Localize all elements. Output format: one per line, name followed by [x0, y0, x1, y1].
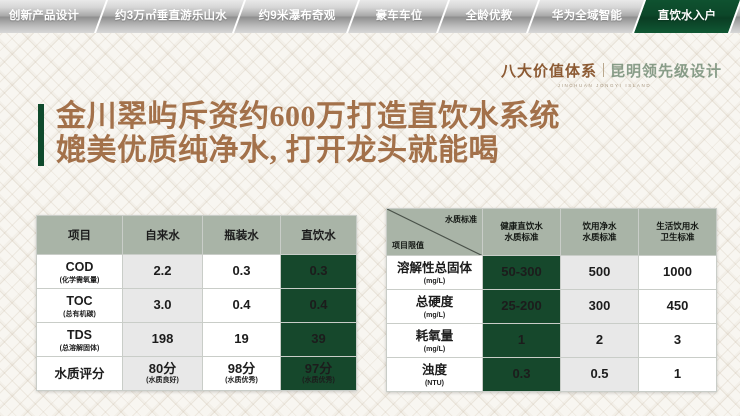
cell-value-highlight: 25-200 [483, 290, 561, 324]
row-label-turbidity: 浊度 (NTU) [387, 358, 483, 392]
row-label-sub: (mg/L) [387, 312, 482, 321]
corner-label-limit: 项目限值 [392, 240, 424, 251]
row-label-main: TDS [67, 328, 92, 342]
row-label-main: 溶解性总固体 [397, 261, 472, 275]
headline-line-2: 媲美优质纯净水, 打开龙头就能喝 [56, 134, 560, 168]
table-row: 总硬度 (mg/L) 25-200 300 450 [387, 290, 717, 324]
brand-lockup: 八大价值体系 昆明领先级设计 JINCHUAN JONGYI ISLAND [501, 62, 722, 89]
nav-tab-1[interactable]: 约3万㎡垂直游乐山水 [94, 0, 248, 33]
table-row: TDS (总溶解固体) 198 19 39 [37, 323, 357, 357]
brand-divider [603, 63, 604, 77]
th-bottled-water: 瓶装水 [203, 216, 281, 255]
nav-tab-label: 约3万㎡垂直游乐山水 [102, 0, 240, 33]
water-comparison-table: 项目 自来水 瓶装水 直饮水 COD (化学需氧量) 2.2 0.3 0.3 T… [36, 215, 357, 391]
row-label-main: 浊度 [422, 363, 447, 377]
cell-value: 98分 (水质优秀) [203, 357, 281, 391]
cell-value: 1000 [639, 256, 717, 290]
row-label-tds-dissolved: 溶解性总固体 (mg/L) [387, 256, 483, 290]
row-label-sub: (NTU) [387, 380, 482, 389]
nav-tab-label: 豪车车位 [354, 0, 444, 33]
row-label-main: 水质评分 [54, 367, 104, 381]
table-row: 耗氧量 (mg/L) 1 2 3 [387, 324, 717, 358]
nav-tab-6-active[interactable]: 直饮水入户 [632, 0, 740, 33]
headline-accent-bar [38, 104, 44, 166]
cell-value: 0.4 [203, 289, 281, 323]
cell-value-sub: (水质优秀) [203, 377, 280, 385]
row-label-main: 总硬度 [416, 295, 454, 309]
table-header-row: 水质标准 项目限值 健康直饮水 水质标准 饮用净水 水质标准 [387, 209, 717, 256]
cell-value-sub: (水质优秀) [281, 377, 356, 385]
cell-value: 300 [561, 290, 639, 324]
cell-value-main: 97分 [305, 361, 332, 376]
cell-value: 19 [203, 323, 281, 357]
nav-tab-bar: 创新产品设计 约3万㎡垂直游乐山水 约9米瀑布奇观 豪车车位 全龄优教 华为全域… [0, 0, 740, 33]
cell-value: 3.0 [123, 289, 203, 323]
corner-label-standard: 水质标准 [445, 214, 477, 225]
cell-value-highlight: 0.4 [281, 289, 357, 323]
row-label-toc: TOC (总有机碳) [37, 289, 123, 323]
cell-value-highlight: 39 [281, 323, 357, 357]
row-label-hardness: 总硬度 (mg/L) [387, 290, 483, 324]
slide-canvas: 创新产品设计 约3万㎡垂直游乐山水 约9米瀑布奇观 豪车车位 全龄优教 华为全域… [0, 0, 740, 416]
th-line-2: 水质标准 [561, 232, 638, 243]
table-row: COD (化学需氧量) 2.2 0.3 0.3 [37, 255, 357, 289]
nav-tab-label: 约9米瀑布奇观 [240, 0, 354, 33]
row-label-main: 耗氧量 [416, 329, 454, 343]
th-direct-drink-water: 直饮水 [281, 216, 357, 255]
row-label-sub: (总溶解固体) [37, 345, 122, 354]
row-label-oxygen-consumption: 耗氧量 (mg/L) [387, 324, 483, 358]
table-row: 水质评分 80分 (水质良好) 98分 (水质优秀) 97分 (水质优秀) [37, 357, 357, 391]
nav-tab-label: 创新产品设计 [0, 0, 102, 33]
cell-value: 80分 (水质良好) [123, 357, 203, 391]
row-label-main: TOC [66, 294, 92, 308]
cell-value: 500 [561, 256, 639, 290]
cell-value: 2.2 [123, 255, 203, 289]
row-label-main: COD [66, 260, 94, 274]
th-line-2: 水质标准 [483, 232, 560, 243]
nav-tab-label: 全龄优教 [444, 0, 534, 33]
cell-value-highlight: 1 [483, 324, 561, 358]
row-label-sub: (mg/L) [387, 346, 482, 355]
row-label-sub: (总有机碳) [37, 311, 122, 320]
cell-value-highlight: 0.3 [483, 358, 561, 392]
cell-value-highlight: 97分 (水质优秀) [281, 357, 357, 391]
th-line-1: 生活饮用水 [639, 221, 716, 232]
cell-value-sub: (水质良好) [123, 377, 202, 385]
row-label-sub: (化学需氧量) [37, 277, 122, 286]
row-label-sub: (mg/L) [387, 278, 482, 287]
headline-text: 金川翠屿斥资约600万打造直饮水系统 媲美优质纯净水, 打开龙头就能喝 [56, 100, 560, 168]
table-row: TOC (总有机碳) 3.0 0.4 0.4 [37, 289, 357, 323]
brand-row: 八大价值体系 昆明领先级设计 [501, 62, 722, 80]
th-item: 项目 [37, 216, 123, 255]
th-healthy-direct-drink: 健康直饮水 水质标准 [483, 209, 561, 256]
nav-tab-label: 华为全域智能 [534, 0, 640, 33]
nav-tab-2[interactable]: 约9米瀑布奇观 [232, 0, 362, 33]
th-purified-drinking: 饮用净水 水质标准 [561, 209, 639, 256]
cell-value-highlight: 50-300 [483, 256, 561, 290]
cell-value: 3 [639, 324, 717, 358]
cell-value: 0.5 [561, 358, 639, 392]
row-label-score: 水质评分 [37, 357, 123, 391]
nav-tab-0[interactable]: 创新产品设计 [0, 0, 110, 33]
cell-value: 198 [123, 323, 203, 357]
cell-value: 450 [639, 290, 717, 324]
cell-value-highlight: 0.3 [281, 255, 357, 289]
th-line-2: 卫生标准 [639, 232, 716, 243]
brand-latin-text: JINCHUAN JONGYI ISLAND [501, 84, 722, 89]
cell-value: 2 [561, 324, 639, 358]
th-corner-split: 水质标准 项目限值 [387, 209, 483, 256]
table-row: 溶解性总固体 (mg/L) 50-300 500 1000 [387, 256, 717, 290]
th-domestic-drinking: 生活饮用水 卫生标准 [639, 209, 717, 256]
brand-sub-text: 昆明领先级设计 [610, 65, 722, 80]
nav-tab-5[interactable]: 华为全域智能 [526, 0, 648, 33]
water-standards-table: 水质标准 项目限值 健康直饮水 水质标准 饮用净水 水质标准 [386, 208, 717, 392]
cell-value-main: 98分 [228, 361, 255, 376]
brand-main-text: 八大价值体系 [501, 65, 597, 80]
cell-value-main: 80分 [149, 361, 176, 376]
headline-line-1: 金川翠屿斥资约600万打造直饮水系统 [56, 100, 560, 134]
table-row: 浊度 (NTU) 0.3 0.5 1 [387, 358, 717, 392]
row-label-tds: TDS (总溶解固体) [37, 323, 123, 357]
row-label-cod: COD (化学需氧量) [37, 255, 123, 289]
cell-value: 1 [639, 358, 717, 392]
nav-tab-label: 直饮水入户 [640, 0, 734, 33]
cell-value: 0.3 [203, 255, 281, 289]
nav-tab-3[interactable]: 豪车车位 [346, 0, 452, 33]
table-header-row: 项目 自来水 瓶装水 直饮水 [37, 216, 357, 255]
th-line-1: 健康直饮水 [483, 221, 560, 232]
th-line-1: 饮用净水 [561, 221, 638, 232]
headline-block: 金川翠屿斥资约600万打造直饮水系统 媲美优质纯净水, 打开龙头就能喝 [38, 100, 560, 168]
th-tap-water: 自来水 [123, 216, 203, 255]
nav-tab-4[interactable]: 全龄优教 [436, 0, 542, 33]
